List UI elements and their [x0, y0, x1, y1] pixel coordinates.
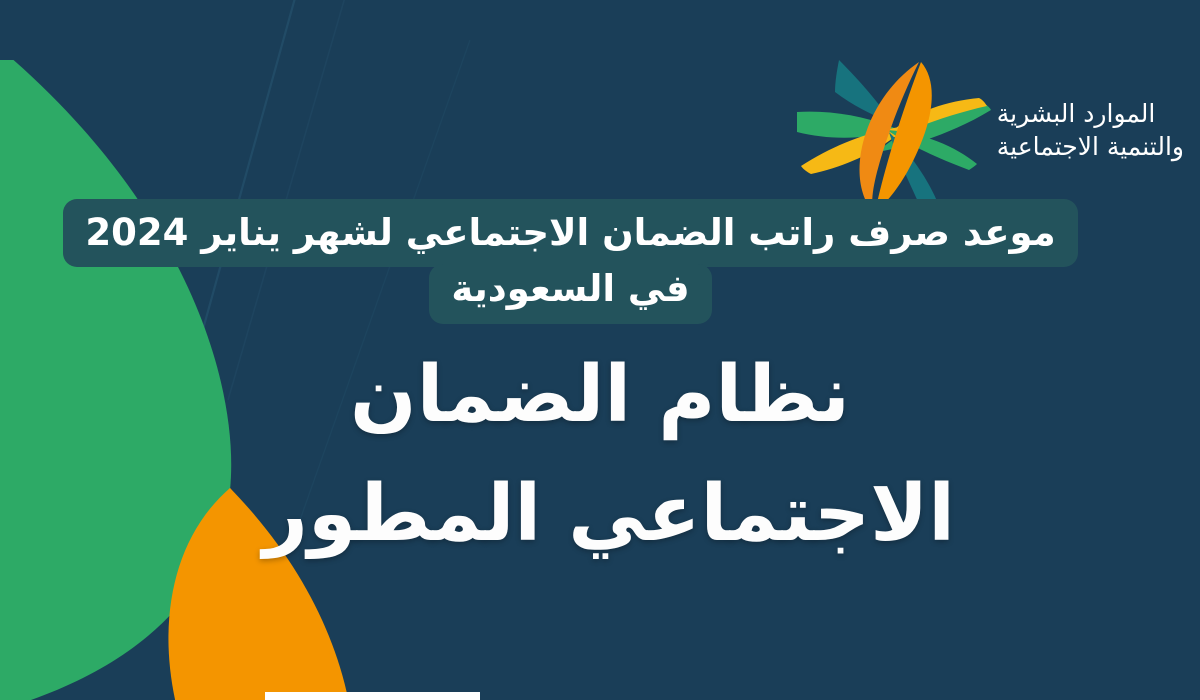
ministry-palm-star-logo-icon	[795, 48, 993, 216]
white-bottom-sliver	[265, 692, 480, 700]
ministry-logo: الموارد البشرية والتنمية الاجتماعية	[795, 48, 1184, 216]
hero-title-line-1: نظام الضمان	[0, 336, 1200, 455]
hero-title: نظام الضمان الاجتماعي المطور	[0, 336, 1200, 573]
ministry-wordmark: الموارد البشرية والتنمية الاجتماعية	[997, 97, 1184, 168]
hero-title-line-2: الاجتماعي المطور	[0, 455, 1200, 574]
headline-banner: موعد صرف راتب الضمان الاجتماعي لشهر يناي…	[0, 199, 1200, 324]
poster-canvas: الموارد البشرية والتنمية الاجتماعية موعد…	[0, 0, 1200, 700]
wordmark-line-2: والتنمية الاجتماعية	[997, 130, 1184, 164]
wordmark-line-1: الموارد البشرية	[997, 97, 1156, 131]
headline-line-2: في السعودية	[429, 264, 711, 324]
headline-line-1: موعد صرف راتب الضمان الاجتماعي لشهر يناي…	[63, 199, 1077, 267]
